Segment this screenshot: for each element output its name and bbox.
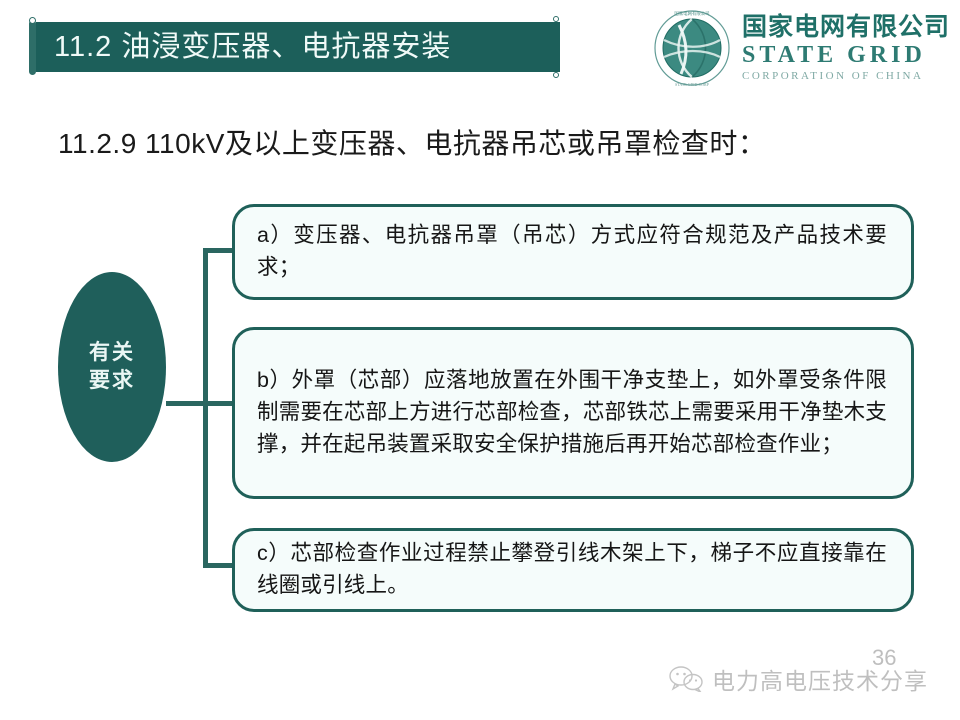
- connector-arm-c: [203, 563, 233, 568]
- category-node-label-line2: 要求: [89, 367, 135, 395]
- logo-english-subtitle: CORPORATION OF CHINA: [742, 71, 950, 82]
- state-grid-logo: 国家电网有限公司 STATE GRID CORP 国家电网有限公司 STATE …: [652, 6, 952, 90]
- requirement-text-c: c）芯部检查作业过程禁止攀登引线木架上下，梯子不应直接靠在线圈或引线上。: [257, 538, 887, 602]
- banner-corner-dot-bottom-right: [553, 72, 559, 78]
- requirement-box-c: c）芯部检查作业过程禁止攀登引线木架上下，梯子不应直接靠在线圈或引线上。: [232, 528, 914, 612]
- state-grid-globe-emblem-icon: 国家电网有限公司 STATE GRID CORP: [652, 8, 732, 88]
- state-grid-logo-text: 国家电网有限公司 STATE GRID CORPORATION OF CHINA: [742, 15, 950, 82]
- svg-text:国家电网有限公司: 国家电网有限公司: [674, 10, 709, 17]
- logo-english-name: STATE GRID: [742, 43, 950, 67]
- requirement-text-b: b）外罩（芯部）应落地放置在外围干净支垫上，如外罩受条件限制需要在芯部上方进行芯…: [257, 365, 887, 460]
- footer-watermark: 电力高电压技术分享: [668, 662, 928, 696]
- watermark-text: 电力高电压技术分享: [712, 662, 928, 696]
- connector-arm-b: [203, 401, 233, 406]
- requirement-box-a: a）变压器、电抗器吊罩（吊芯）方式应符合规范及产品技术要求；: [232, 204, 914, 300]
- section-heading: 11.2.9 110kV及以上变压器、电抗器吊芯或吊罩检查时：: [58, 122, 766, 162]
- connector-stem: [166, 401, 206, 406]
- logo-chinese-name: 国家电网有限公司: [742, 15, 950, 40]
- connector-spine: [203, 248, 208, 568]
- banner-left-pin-decoration: [29, 20, 36, 75]
- category-node-label-line1: 有关: [89, 339, 135, 367]
- svg-text:STATE GRID CORP: STATE GRID CORP: [675, 82, 710, 87]
- slide-canvas: 11.2 油浸变压器、电抗器安装 国家电网有限公司 STATE GRID COR…: [0, 0, 960, 720]
- banner-corner-dot-top-right: [553, 16, 559, 22]
- requirement-text-a: a）变压器、电抗器吊罩（吊芯）方式应符合规范及产品技术要求；: [257, 220, 887, 284]
- category-node-oval: 有关 要求: [58, 272, 166, 462]
- page-title: 11.2 油浸变压器、电抗器安装: [54, 33, 451, 62]
- wechat-icon: [668, 666, 704, 692]
- requirement-box-b: b）外罩（芯部）应落地放置在外围干净支垫上，如外罩受条件限制需要在芯部上方进行芯…: [232, 327, 914, 499]
- connector-arm-a: [203, 248, 233, 253]
- slide-title-banner: 11.2 油浸变压器、电抗器安装: [36, 22, 560, 72]
